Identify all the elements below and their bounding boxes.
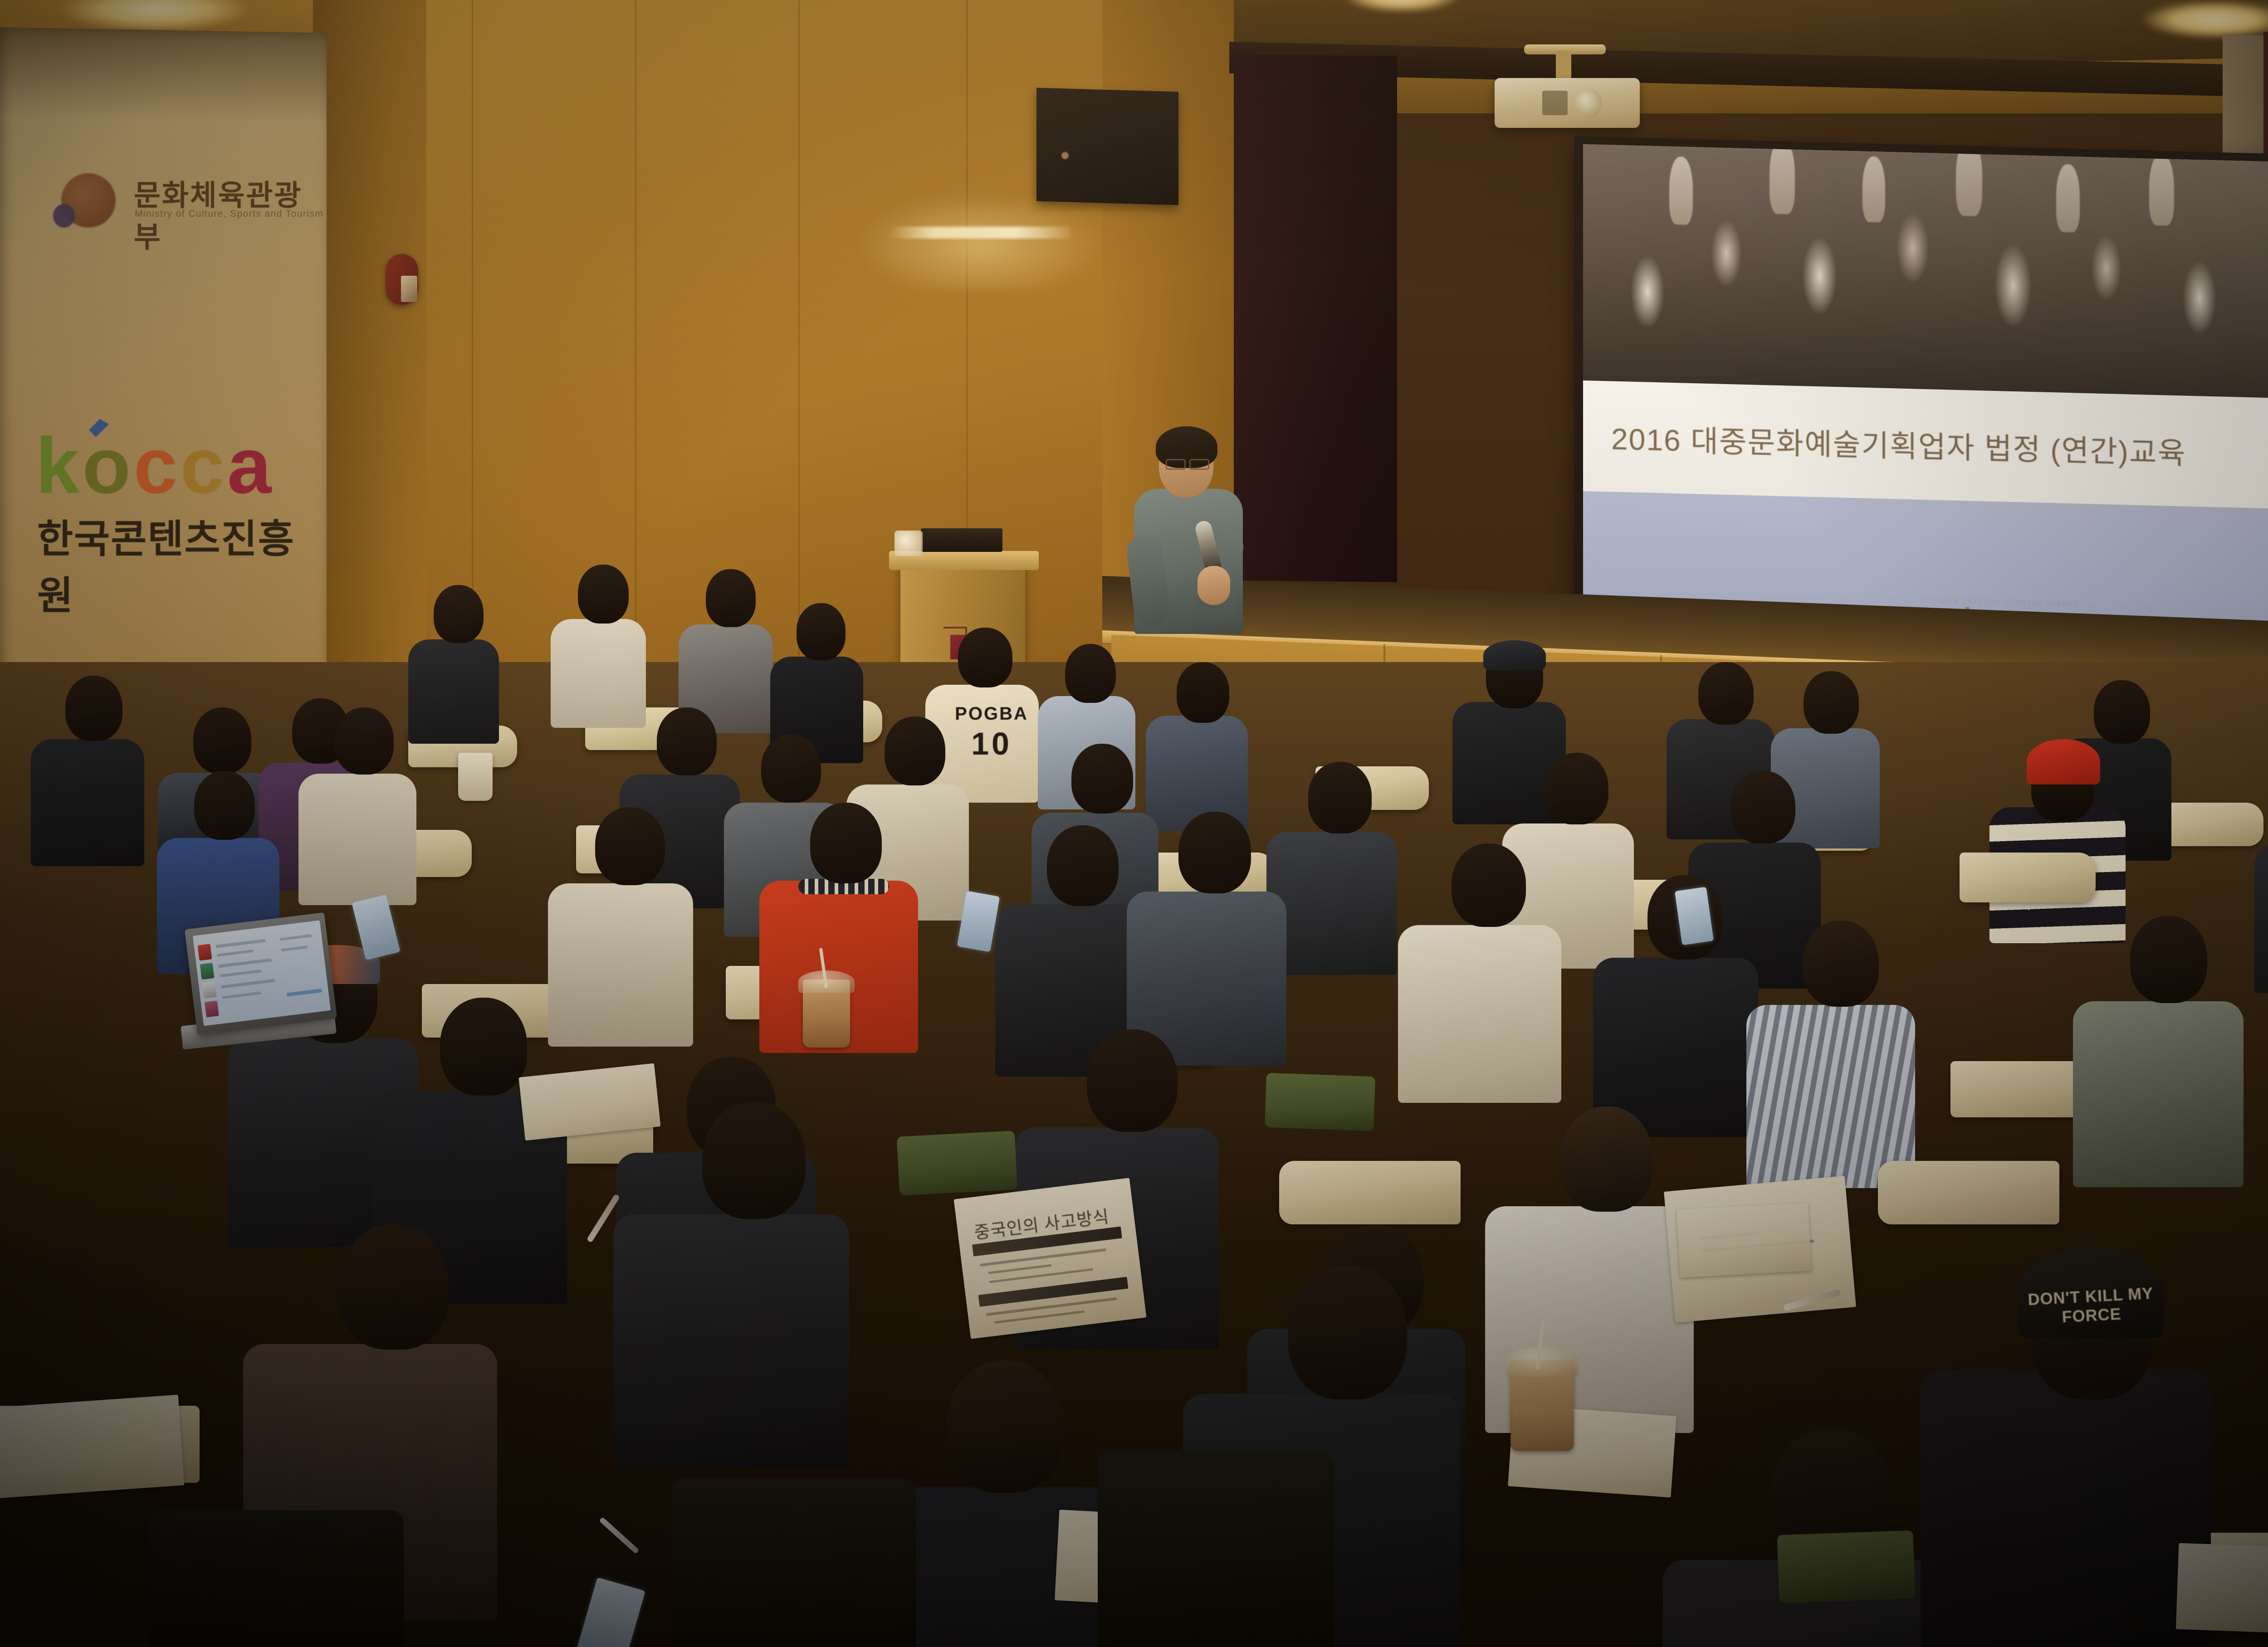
banner-top-shadow bbox=[0, 27, 327, 124]
projector-mount-arm bbox=[1556, 51, 1571, 81]
person-head bbox=[657, 707, 717, 775]
projector-vent-icon bbox=[1542, 91, 1568, 115]
handout-text-line bbox=[988, 1264, 1052, 1274]
ministry-emblem-dot-icon bbox=[53, 204, 75, 228]
person-head bbox=[810, 803, 882, 883]
person-head bbox=[958, 628, 1012, 687]
laptop-text-line bbox=[222, 992, 261, 999]
person-head bbox=[1177, 662, 1229, 723]
person-head bbox=[1288, 1265, 1407, 1399]
wall-seam bbox=[635, 0, 636, 671]
pogba-jersey-number: 10 bbox=[946, 726, 1037, 762]
person-head bbox=[946, 1360, 1063, 1493]
person-head bbox=[761, 735, 821, 803]
kocca-letter-a: a bbox=[227, 422, 274, 510]
wall-left-recess bbox=[313, 0, 426, 680]
person-head bbox=[1803, 921, 1879, 1007]
stage-curtain-left bbox=[1234, 54, 1397, 582]
red-baseball-cap-icon bbox=[2027, 739, 2100, 785]
slide-title: 2016 대중문화예술기획업자 법정 (연간)교육 bbox=[1583, 414, 2186, 473]
person-head bbox=[1560, 1106, 1653, 1212]
slide-hand-icon bbox=[1769, 144, 1795, 214]
chair-seat[interactable] bbox=[1265, 1073, 1375, 1131]
person-torso bbox=[1146, 716, 1248, 831]
cap-slogan-text: DON'T KILL MY FORCE bbox=[2022, 1283, 2160, 1329]
striped-blouse bbox=[1746, 1005, 1915, 1188]
laptop-text-line bbox=[221, 979, 275, 989]
person-head bbox=[440, 998, 527, 1096]
kocca-wordmark: kocca bbox=[35, 426, 274, 506]
slide-hand-icon bbox=[2056, 164, 2080, 232]
person-head bbox=[1087, 1029, 1178, 1132]
laptop-text-line bbox=[218, 958, 272, 968]
kocca-letter-k: k bbox=[35, 422, 82, 510]
laptop-screen[interactable] bbox=[193, 921, 331, 1026]
handout-document[interactable] bbox=[2176, 1543, 2268, 1636]
laptop-thumbnail bbox=[197, 944, 212, 960]
slide-hand-icon bbox=[1956, 144, 1982, 216]
person-head bbox=[338, 1224, 449, 1350]
kocca-letter-o: o bbox=[82, 422, 133, 510]
slide-title-bar: 2016 대중문화예술기획업자 법정 (연간)교육 bbox=[1583, 380, 2268, 509]
lectern-logo-stroke bbox=[943, 627, 967, 629]
person-head bbox=[797, 603, 846, 660]
cap-icon bbox=[1483, 640, 1546, 670]
person-head bbox=[434, 585, 484, 643]
chair-back[interactable] bbox=[1098, 1451, 1334, 1647]
laptop-text-line bbox=[281, 945, 308, 951]
chair-back[interactable] bbox=[150, 1510, 404, 1647]
laptop-thumbnail bbox=[202, 982, 217, 999]
person-head bbox=[2130, 916, 2207, 1003]
person-torso bbox=[31, 739, 144, 866]
chair-back[interactable] bbox=[671, 1478, 916, 1647]
laptop-text-line bbox=[220, 970, 261, 977]
handout-document[interactable]: 중국인의 사고방식 bbox=[954, 1178, 1147, 1339]
person-head bbox=[578, 565, 629, 624]
person-head bbox=[65, 676, 122, 741]
kocca-letter-c2: c bbox=[181, 422, 227, 510]
presenter-hand bbox=[1198, 566, 1230, 605]
laptop-thumbnail bbox=[205, 1000, 219, 1017]
glasses-icon bbox=[1166, 459, 1186, 470]
person-head bbox=[706, 569, 756, 627]
slide-photo-crowd bbox=[1583, 144, 2268, 414]
seminar-hall-photo: 문화체육관광부 Ministry of Culture, Sports and … bbox=[0, 0, 2268, 1647]
person-head bbox=[1178, 812, 1251, 893]
kocca-letter-c1: c bbox=[133, 422, 180, 510]
wall-seam bbox=[472, 0, 473, 680]
laptop-text-line bbox=[280, 934, 312, 940]
person-head bbox=[1047, 825, 1119, 906]
wall-light-strip bbox=[889, 227, 1070, 239]
slide-hand-icon bbox=[1669, 156, 1693, 225]
lectern-equipment bbox=[921, 528, 1002, 552]
paper-cup[interactable] bbox=[458, 753, 493, 801]
person-head bbox=[1804, 671, 1859, 734]
kocca-name-ko: 한국콘텐츠진흥원 bbox=[37, 507, 326, 620]
lectern-water-cups bbox=[894, 531, 923, 556]
projector-lens-icon bbox=[1574, 89, 1602, 117]
person-head bbox=[2094, 680, 2150, 744]
person-head bbox=[1698, 662, 1754, 725]
slide-hand-icon bbox=[1862, 156, 1885, 223]
cup-lid-icon bbox=[1505, 1347, 1579, 1377]
person-head bbox=[1731, 771, 1795, 843]
wall-seam bbox=[798, 0, 800, 658]
person-torso bbox=[408, 639, 499, 744]
person-torso bbox=[298, 774, 416, 905]
slide-hand-icon bbox=[2149, 154, 2174, 226]
person-head bbox=[1071, 744, 1133, 814]
tablet-arm-desk bbox=[1960, 853, 2096, 902]
person-torso bbox=[1398, 925, 1561, 1103]
person-head bbox=[193, 707, 251, 774]
tablet-arm-desk bbox=[1878, 1161, 2059, 1224]
person-torso bbox=[2073, 1001, 2244, 1187]
person-torso bbox=[613, 1214, 849, 1468]
person-head bbox=[335, 707, 394, 775]
person-torso bbox=[1921, 1369, 2211, 1647]
person-head bbox=[1308, 762, 1372, 833]
person-head bbox=[1545, 753, 1608, 824]
tablet-arm-desk bbox=[1279, 1161, 1461, 1224]
handout-document[interactable] bbox=[0, 1395, 184, 1499]
chair-seat[interactable] bbox=[1777, 1530, 1915, 1603]
person-head bbox=[1065, 644, 1116, 703]
ministry-name-en: Ministry of Culture, Sports and Tourism bbox=[135, 209, 323, 219]
glasses-icon bbox=[1189, 459, 1209, 470]
laptop-text-line bbox=[216, 939, 266, 948]
person-torso bbox=[2254, 843, 2268, 993]
person-torso bbox=[548, 883, 693, 1047]
laptop-thumbnail bbox=[200, 963, 215, 979]
person-head bbox=[194, 771, 255, 840]
chair-seat[interactable] bbox=[897, 1130, 1017, 1195]
wall-light-glow bbox=[853, 190, 1107, 290]
handout-document[interactable] bbox=[1677, 1203, 1811, 1278]
fire-alarm-strobe-icon bbox=[401, 276, 417, 302]
speaker-led-icon bbox=[1061, 152, 1069, 159]
person-head bbox=[702, 1102, 806, 1219]
wall-speaker bbox=[1036, 88, 1178, 205]
person-head bbox=[885, 716, 945, 785]
projection-screen: 2016 대중문화예술기획업자 법정 (연간)교육 문화체육관광부 KOREA … bbox=[1583, 144, 2268, 665]
laptop-text-line bbox=[217, 950, 253, 957]
pogba-jersey-name: POGBA bbox=[946, 704, 1037, 724]
person-torso bbox=[551, 619, 646, 728]
person-head bbox=[1452, 843, 1526, 927]
person-head bbox=[595, 807, 665, 885]
laptop-text-line bbox=[287, 989, 322, 996]
